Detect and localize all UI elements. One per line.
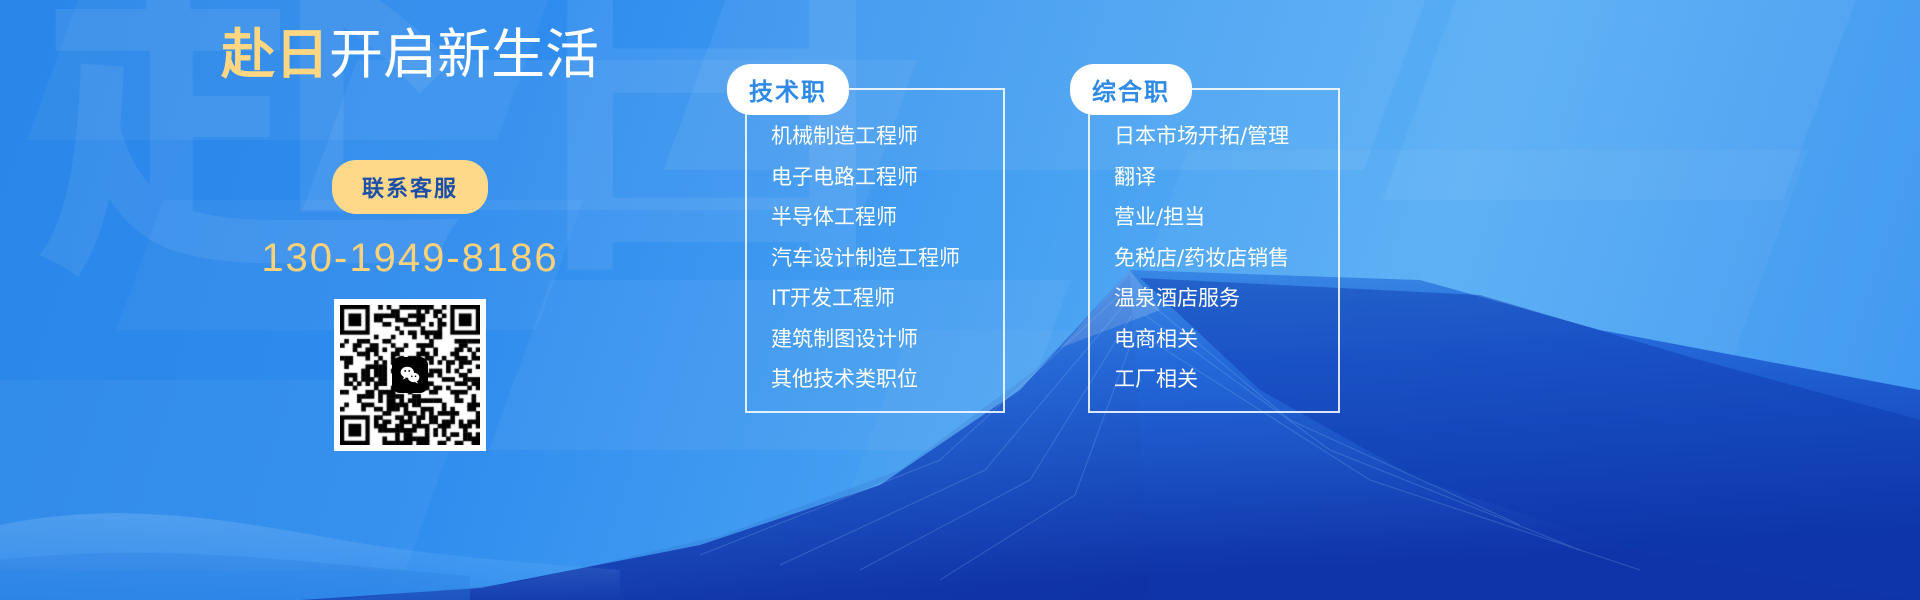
job-list-item[interactable]: 电商相关 xyxy=(1090,319,1338,360)
job-category-general: 日本市场开拓/管理翻译营业/担当免税店/药妆店销售温泉酒店服务电商相关工厂相关 … xyxy=(1088,88,1340,413)
job-list-item[interactable]: 汽车设计制造工程师 xyxy=(747,238,1003,279)
job-list-item[interactable]: 日本市场开拓/管理 xyxy=(1090,116,1338,157)
job-list-item[interactable]: 营业/担当 xyxy=(1090,197,1338,238)
job-list-item[interactable]: 翻译 xyxy=(1090,157,1338,198)
job-list-item[interactable]: 其他技术类职位 xyxy=(747,359,1003,400)
job-list-item[interactable]: 工厂相关 xyxy=(1090,359,1338,400)
job-list: 日本市场开拓/管理翻译营业/担当免税店/药妆店销售温泉酒店服务电商相关工厂相关 xyxy=(1090,116,1338,400)
qr-code[interactable] xyxy=(334,299,486,451)
job-category-badge-tech[interactable]: 技术职 xyxy=(727,64,849,115)
job-list: 机械制造工程师电子电路工程师半导体工程师汽车设计制造工程师IT开发工程师建筑制图… xyxy=(747,116,1003,400)
decorative-band xyxy=(1383,0,1878,200)
job-list-item[interactable]: 温泉酒店服务 xyxy=(1090,278,1338,319)
job-list-item[interactable]: 电子电路工程师 xyxy=(747,157,1003,198)
phone-number: 130-1949-8186 xyxy=(150,236,670,281)
contact-block: 赴日开启新生活 联系客服 130-1949-8186 xyxy=(150,28,670,451)
page-title: 赴日开启新生活 xyxy=(150,28,670,82)
headline-rest: 开启新生活 xyxy=(329,23,599,86)
recruitment-banner: 赴日 xyxy=(0,0,1920,600)
job-category-tech: 机械制造工程师电子电路工程师半导体工程师汽车设计制造工程师IT开发工程师建筑制图… xyxy=(745,88,1005,413)
wechat-icon xyxy=(392,357,428,393)
job-category-badge-general[interactable]: 综合职 xyxy=(1070,64,1192,115)
job-list-item[interactable]: 半导体工程师 xyxy=(747,197,1003,238)
job-list-item[interactable]: 机械制造工程师 xyxy=(747,116,1003,157)
job-list-box: 机械制造工程师电子电路工程师半导体工程师汽车设计制造工程师IT开发工程师建筑制图… xyxy=(745,88,1005,413)
job-list-item[interactable]: 建筑制图设计师 xyxy=(747,319,1003,360)
job-list-item[interactable]: 免税店/药妆店销售 xyxy=(1090,238,1338,279)
job-list-box: 日本市场开拓/管理翻译营业/担当免税店/药妆店销售温泉酒店服务电商相关工厂相关 xyxy=(1088,88,1340,413)
contact-support-button[interactable]: 联系客服 xyxy=(332,160,488,214)
headline-highlight: 赴日 xyxy=(221,23,329,86)
job-list-item[interactable]: IT开发工程师 xyxy=(747,278,1003,319)
